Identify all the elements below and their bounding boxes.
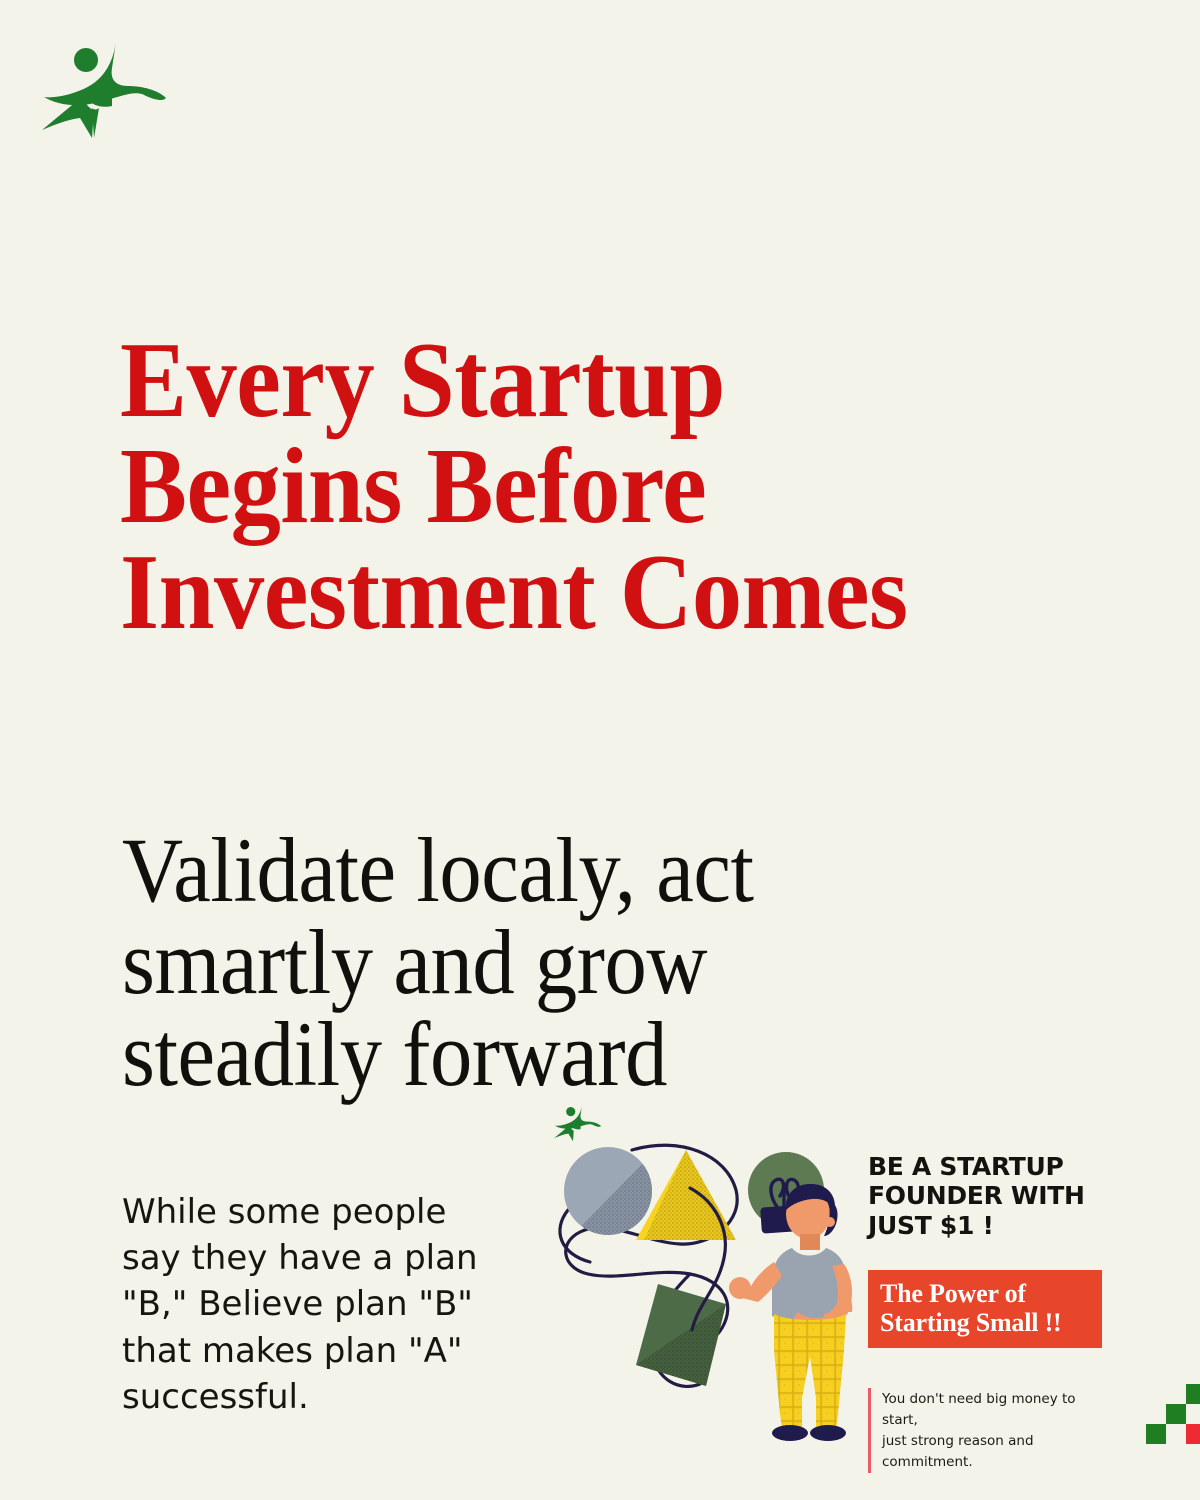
deco-square-green-mid <box>1166 1404 1186 1424</box>
page-subtitle: Validate localy, act smartly and grow st… <box>122 824 996 1100</box>
status-badge: The Power of Starting Small !! <box>868 1270 1102 1348</box>
deco-square-green-top <box>1186 1384 1200 1404</box>
footnote-block: You don't need big money to start, just … <box>868 1388 1112 1473</box>
body-paragraph: While some people say they have a plan "… <box>122 1189 552 1420</box>
right-column: BE A STARTUP FOUNDER WITH JUST $1 ! The … <box>868 1152 1112 1473</box>
green-square <box>636 1284 726 1386</box>
standing-person-illustration <box>729 1184 852 1441</box>
cta-heading: BE A STARTUP FOUNDER WITH JUST $1 ! <box>868 1152 1112 1240</box>
footnote-text: You don't need big money to start, just … <box>882 1388 1112 1473</box>
deco-square-red <box>1186 1424 1200 1444</box>
startup-founder-illustration <box>540 1098 880 1448</box>
accent-rule <box>868 1388 871 1473</box>
deco-square-green-bottom <box>1146 1424 1166 1444</box>
corner-decoration <box>1146 1384 1200 1444</box>
brand-logo-icon <box>42 40 167 140</box>
gray-circle <box>564 1147 652 1238</box>
poster-canvas: Every Startup Begins Before Investment C… <box>0 0 1200 1500</box>
illustration-logo-icon <box>554 1105 601 1141</box>
page-title: Every Startup Begins Before Investment C… <box>120 328 1059 645</box>
